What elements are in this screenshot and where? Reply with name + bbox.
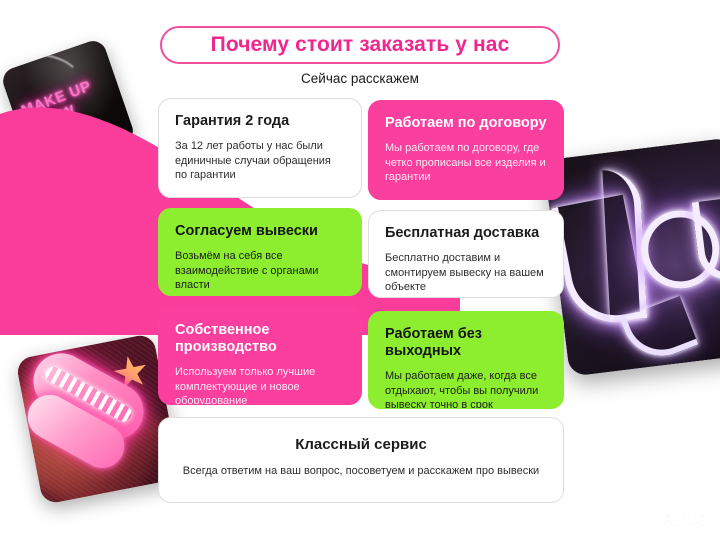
card-approve-signs-text: Возьмём на себя все взаимодействие с орг… [175, 249, 345, 293]
card-no-days-off-text: Мы работаем даже, когда все отдыхают, чт… [385, 369, 547, 409]
card-approve-signs-title: Согласуем вывески [175, 223, 345, 240]
card-free-delivery-title: Бесплатная доставка [385, 225, 547, 242]
card-contract-text: Мы работаем по договору, где четко пропи… [385, 141, 547, 185]
card-free-delivery-text: Бесплатно доставим и смонтируем вывеску … [385, 251, 547, 295]
card-free-delivery[interactable]: Бесплатная доставка Бесплатно доставим и… [368, 210, 564, 298]
card-own-production-text: Используем только лучшие комплектующие и… [175, 365, 345, 405]
card-approve-signs[interactable]: Согласуем вывески Возьмём на себя все вз… [158, 208, 362, 296]
content-layer: Почему стоит заказать у нас Сейчас расск… [0, 0, 720, 540]
page-title: Почему стоит заказать у нас [211, 33, 510, 57]
card-guarantee-text: За 12 лет работы у нас были единичные сл… [175, 139, 345, 183]
promo-banner: MAKE UP BROW Почему стоит заказать у нас… [0, 0, 720, 540]
card-great-service[interactable]: Классный сервис Всегда ответим на ваш во… [158, 417, 564, 503]
avito-watermark-label: Avito [661, 508, 708, 528]
card-no-days-off-title: Работаем без выходных [385, 326, 547, 360]
card-contract-title: Работаем по договору [385, 115, 547, 132]
page-title-pill: Почему стоит заказать у нас [160, 26, 560, 64]
avito-watermark: Avito [637, 508, 708, 528]
card-contract[interactable]: Работаем по договору Мы работаем по дого… [368, 100, 564, 200]
avito-logo-icon [637, 510, 656, 527]
card-no-days-off[interactable]: Работаем без выходных Мы работаем даже, … [368, 311, 564, 409]
card-guarantee-title: Гарантия 2 года [175, 113, 345, 130]
card-own-production-title: Собственное производство [175, 322, 345, 356]
card-own-production[interactable]: Собственное производство Используем толь… [158, 307, 362, 405]
card-great-service-text: Всегда ответим на ваш вопрос, посоветуем… [175, 464, 547, 479]
page-subtitle: Сейчас расскажем [0, 71, 720, 86]
card-great-service-title: Классный сервис [175, 436, 547, 453]
card-guarantee[interactable]: Гарантия 2 года За 12 лет работы у нас б… [158, 98, 362, 198]
